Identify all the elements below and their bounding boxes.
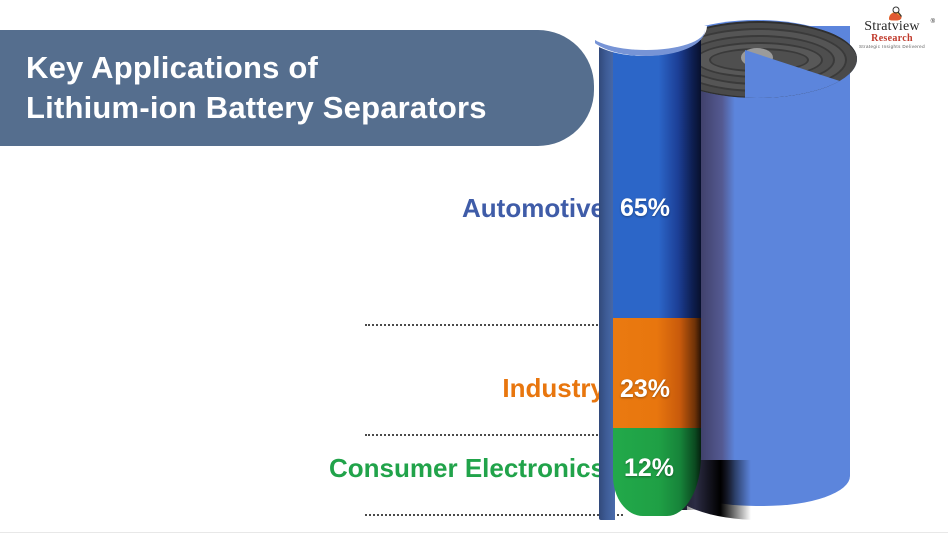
page-title-line-2: Lithium-ion Battery Separators [26,88,554,128]
segment-industry [613,318,701,428]
category-label-consumer-electronics: Consumer Electronics [329,455,605,481]
separator-roll-illustration [595,8,865,528]
value-automotive: 65% [620,196,670,221]
segment-automotive [613,40,701,318]
infographic-canvas: Key Applications of Lithium-ion Battery … [0,0,948,532]
title-banner: Key Applications of Lithium-ion Battery … [0,30,594,146]
value-industry: 23% [620,377,670,402]
unrolled-sheet [613,40,701,516]
leader-line-automotive [365,324,617,326]
page-title-line-1: Key Applications of [26,48,554,88]
logo-registered-mark: ® [931,19,935,25]
leader-line-industry [365,434,617,436]
leader-line-consumer-electronics [365,514,623,516]
value-consumer-electronics: 12% [624,456,674,481]
category-label-automotive: Automotive [462,195,605,221]
sheet-top-curl [595,26,707,72]
category-label-industry: Industry [502,375,605,401]
